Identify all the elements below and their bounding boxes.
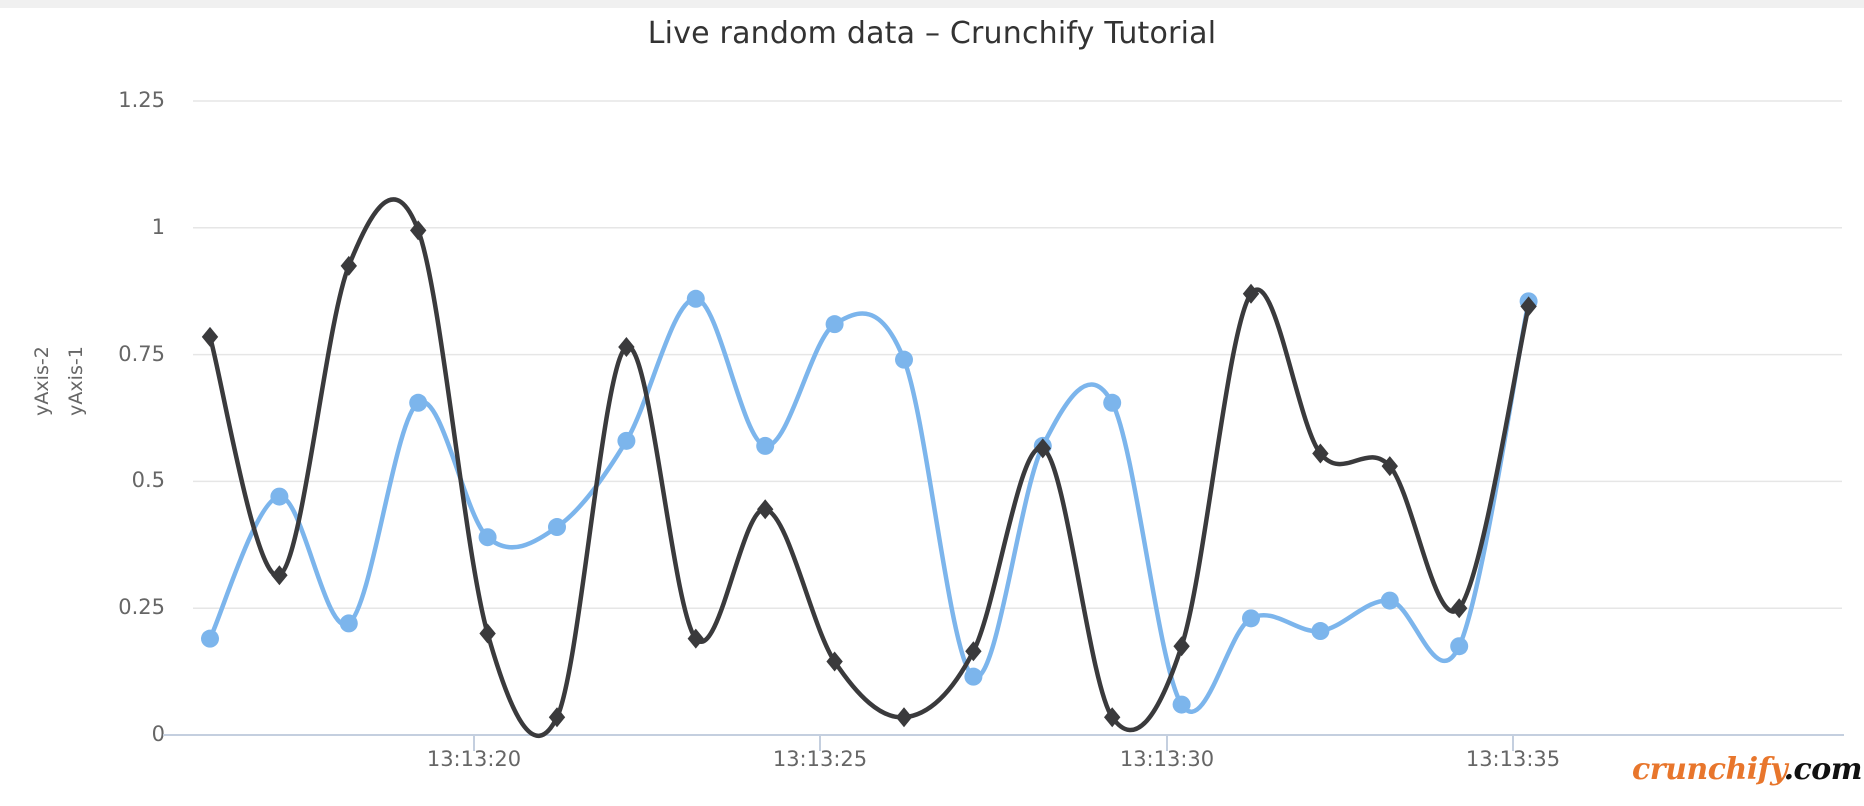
plot-area <box>0 0 1864 806</box>
series-yaxis-1 <box>202 199 1537 735</box>
crunchify-watermark: crunchify.com <box>1632 752 1862 787</box>
data-point-circle[interactable] <box>340 614 358 632</box>
data-point-circle[interactable] <box>1242 609 1260 627</box>
data-point-diamond[interactable] <box>896 707 912 727</box>
data-point-circle[interactable] <box>270 488 288 506</box>
data-point-circle[interactable] <box>756 437 774 455</box>
data-point-circle[interactable] <box>409 394 427 412</box>
data-point-diamond[interactable] <box>202 327 218 347</box>
data-point-diamond[interactable] <box>757 499 773 519</box>
x-axis-ticks <box>474 735 1513 751</box>
data-point-circle[interactable] <box>617 432 635 450</box>
data-point-diamond[interactable] <box>479 624 495 644</box>
data-point-circle[interactable] <box>964 668 982 686</box>
data-point-circle[interactable] <box>548 518 566 536</box>
series-yaxis-2 <box>201 290 1538 714</box>
watermark-tld: .com <box>1784 752 1862 787</box>
data-point-circle[interactable] <box>895 351 913 369</box>
series-line <box>210 299 1529 712</box>
data-point-circle[interactable] <box>687 290 705 308</box>
data-series <box>201 199 1538 735</box>
chart-container: Live random data – Crunchify Tutorial yA… <box>0 0 1864 806</box>
watermark-brand: crunchify <box>1632 752 1784 787</box>
data-point-diamond[interactable] <box>1173 636 1189 656</box>
data-point-circle[interactable] <box>479 528 497 546</box>
series-line <box>210 199 1529 735</box>
data-point-circle[interactable] <box>1103 394 1121 412</box>
data-point-circle[interactable] <box>826 315 844 333</box>
data-point-circle[interactable] <box>1381 592 1399 610</box>
data-point-circle[interactable] <box>1450 637 1468 655</box>
data-point-circle[interactable] <box>1311 622 1329 640</box>
data-point-diamond[interactable] <box>410 220 426 240</box>
data-point-circle[interactable] <box>1173 696 1191 714</box>
data-point-diamond[interactable] <box>341 256 357 276</box>
data-point-circle[interactable] <box>201 630 219 648</box>
